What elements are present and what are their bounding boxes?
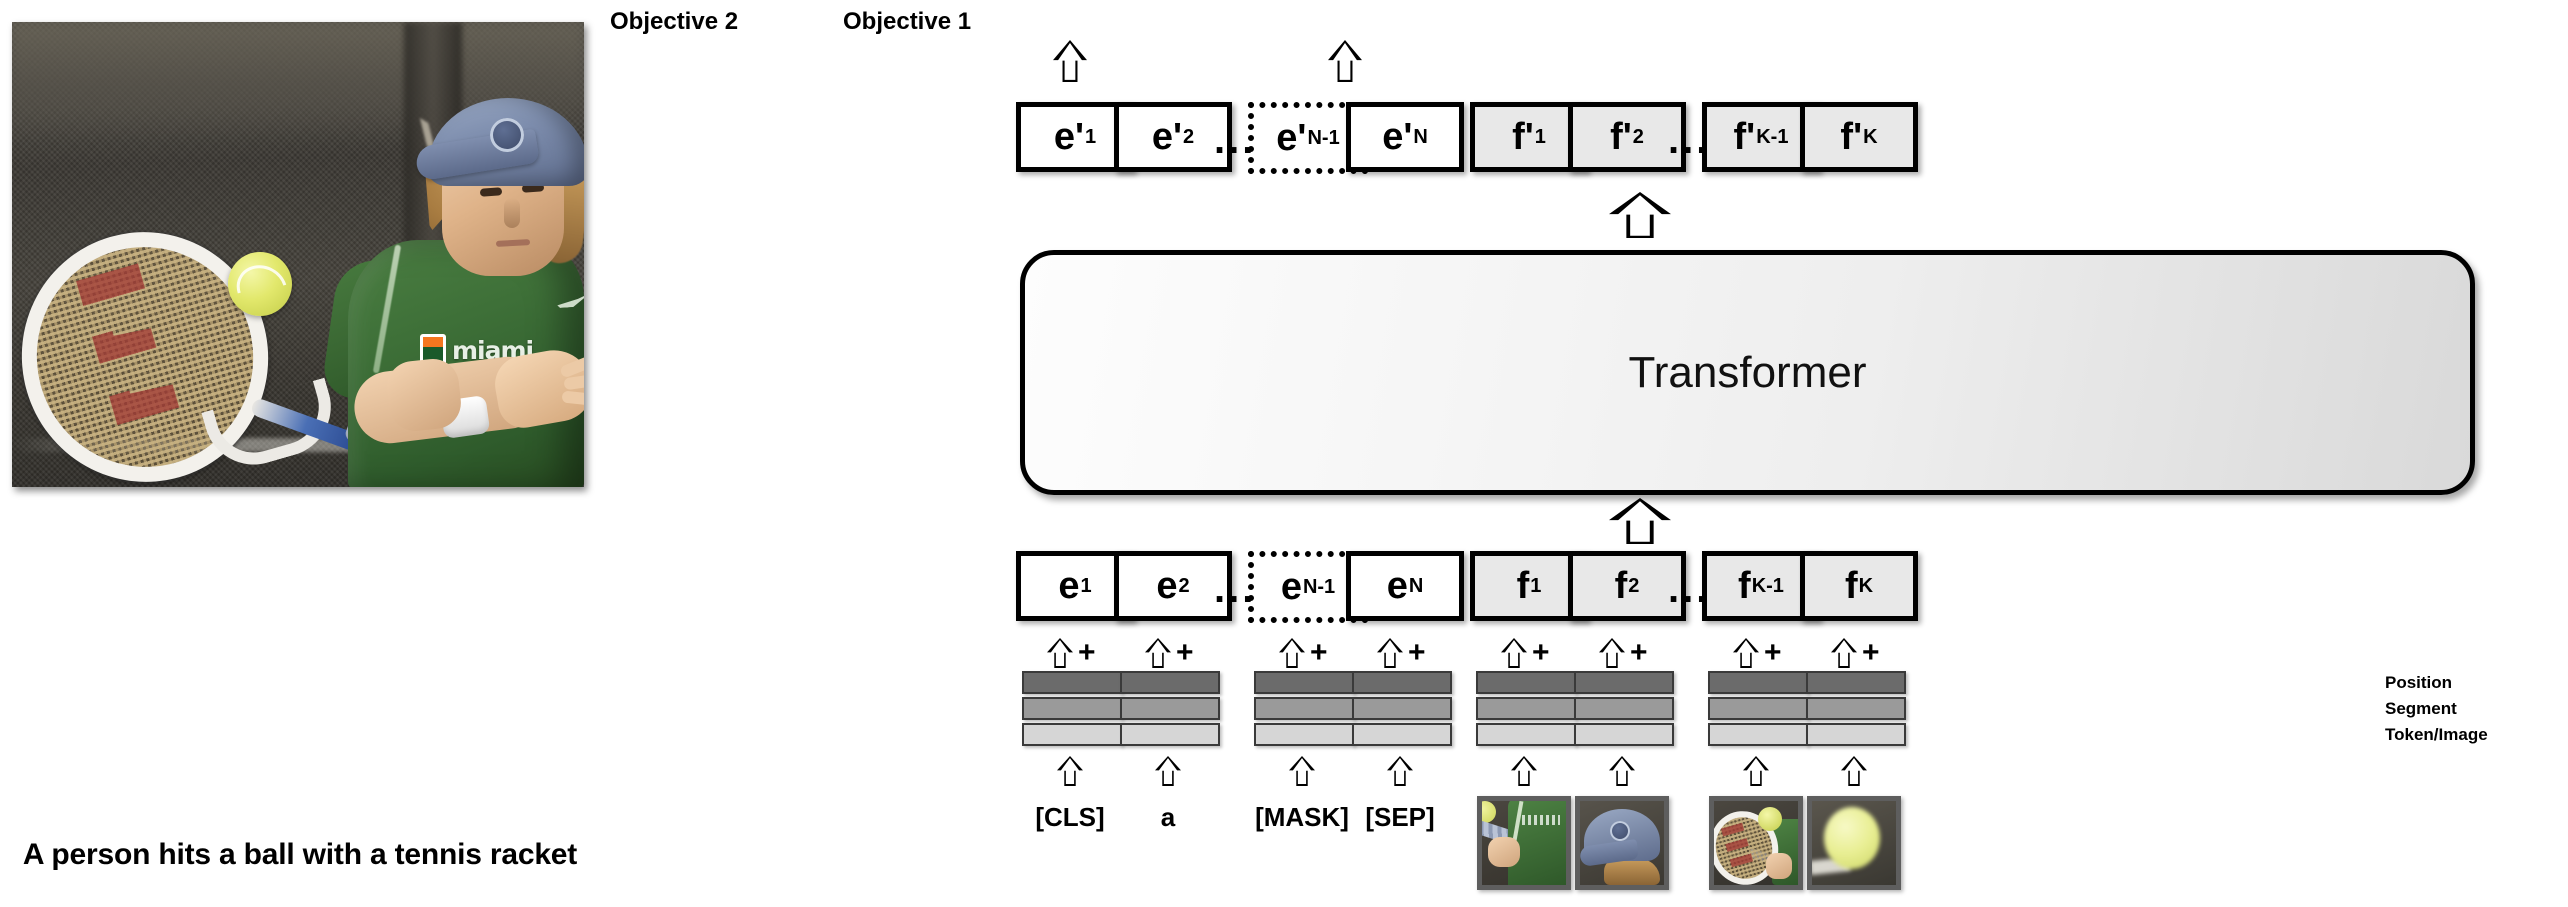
raw-text-token-a: a [1114,802,1222,833]
source-photo: miami [12,22,584,487]
vl-bert-architecture-diagram: Objective 2 Objective 1 e'1e'2e'N-1e'Nf'… [600,0,2568,907]
token-symbol: e' [1054,118,1084,156]
output-token-fprime-K[interactable]: f'K [1800,102,1918,172]
legend-label-token-image: Token/Image [2385,725,2488,745]
embedding-sum-arrow [1377,638,1403,668]
arrow-inner [1603,640,1622,666]
arrow-inner [1515,758,1534,784]
token-symbol: f' [1512,118,1534,156]
raw-input-arrow [1841,756,1867,786]
embedding-sum-arrow [1279,638,1305,668]
arrow-inner [1159,758,1178,784]
patch-tennis-ball-closeup-content [1812,801,1896,885]
token-symbol: e [1058,567,1079,605]
embedding-sum-arrow [1047,638,1073,668]
arrow-inner [1283,640,1302,666]
token-subscript: 1 [1535,126,1546,149]
embedding-sum-arrow [1831,638,1857,668]
embedding-plus-symbol: + [1630,638,1648,668]
embedding-sum-arrow [1733,638,1759,668]
token-symbol: e' [1152,118,1182,156]
token-subscript: 2 [1183,126,1194,149]
embedding-bar-token-image [1574,723,1674,746]
embedding-bar-position [1022,671,1122,694]
arrow-inner [1293,758,1312,784]
token-symbol: e' [1382,118,1412,156]
transformer-block[interactable]: Transformer [1020,250,2475,495]
transformer-label: Transformer [1629,348,1867,398]
embedding-plus-symbol: + [1862,638,1880,668]
token-subscript: K [1859,575,1873,598]
embedding-bar-token-image [1120,723,1220,746]
embedding-bar-position [1708,671,1808,694]
arrow-inner [1061,758,1080,784]
token-subscript: N [1409,575,1423,598]
embedding-bar-token-image [1708,723,1808,746]
token-symbol: e [1156,567,1177,605]
embedding-bar-position [1254,671,1354,694]
embedding-bar-segment [1708,697,1808,720]
input-row-ellipsis-left: ... [1214,569,1256,609]
token-symbol: e [1281,568,1302,606]
embedding-plus-symbol: + [1408,638,1426,668]
embedding-bar-position [1120,671,1220,694]
objective-2-arrow [1053,40,1087,82]
patch-green-shirt-arm[interactable] [1477,796,1571,890]
raw-text-token-cls: [CLS] [1016,802,1124,833]
raw-input-arrow [1609,756,1635,786]
image-caption-text: A person hits a ball with a tennis racke… [0,838,600,872]
legend-label-segment: Segment [2385,699,2457,719]
token-symbol: f [1845,567,1858,605]
arrow-transformer-to-output [1609,192,1671,238]
embedding-plus-symbol: + [1310,638,1328,668]
arrow-inner [1618,195,1663,235]
patch-racket-and-ball[interactable] [1709,796,1803,890]
player-nose [504,198,520,228]
cap-logo-icon [490,118,524,152]
token-subscript: 2 [1628,575,1639,598]
token-symbol: e' [1276,119,1306,157]
objective-2-label: Objective 2 [610,8,738,36]
token-subscript: 2 [1633,126,1644,149]
raw-input-arrow [1511,756,1537,786]
token-subscript: N-1 [1303,576,1335,599]
legend-label-position: Position [2385,673,2452,693]
arrow-inner [1149,640,1168,666]
embedding-bar-position [1806,671,1906,694]
patch-tennis-ball-closeup[interactable] [1807,796,1901,890]
output-row-ellipsis-right: ... [1668,120,1710,160]
embedding-bar-position [1352,671,1452,694]
input-token-f-K[interactable]: fK [1800,551,1918,621]
token-subscript: 1 [1530,575,1541,598]
arrow-inner [1051,640,1070,666]
raw-input-arrow [1057,756,1083,786]
embedding-sum-arrow [1599,638,1625,668]
player-racket-hand [385,356,464,433]
arrow-inner [1058,43,1082,80]
player-eye [480,187,503,197]
embedding-bar-segment [1120,697,1220,720]
raw-text-token-mask: [MASK] [1248,802,1356,833]
token-subscript: 1 [1085,126,1096,149]
embedding-bar-token-image [1352,723,1452,746]
token-subscript: 2 [1179,575,1190,598]
token-symbol: e [1387,567,1408,605]
patch-blue-cap[interactable] [1575,796,1669,890]
token-subscript: K [1863,126,1877,149]
patch-racket-and-ball-content [1714,801,1798,885]
token-symbol: f [1738,567,1751,605]
embedding-bar-segment [1476,697,1576,720]
arrow-inner [1391,758,1410,784]
embedding-plus-symbol: + [1764,638,1782,668]
arrow-inner [1618,501,1663,541]
token-symbol: f [1517,567,1530,605]
embedding-bar-token-image [1476,723,1576,746]
embedding-sum-arrow [1145,638,1171,668]
embedding-bar-segment [1574,697,1674,720]
token-subscript: K-1 [1756,126,1788,149]
objective-1-label: Objective 1 [843,8,971,36]
patch-blue-cap-content [1580,801,1664,885]
embedding-bar-segment [1022,697,1122,720]
embedding-sum-arrow [1501,638,1527,668]
output-row-ellipsis-left: ... [1214,120,1256,160]
input-row-ellipsis-right: ... [1668,569,1710,609]
arrow-inner [1613,758,1632,784]
token-symbol: f [1615,567,1628,605]
embedding-bar-token-image [1022,723,1122,746]
token-subscript: 1 [1081,575,1092,598]
embedding-plus-symbol: + [1078,638,1096,668]
token-subscript: N [1413,126,1427,149]
arrow-inner [1381,640,1400,666]
raw-text-token-sep: [SEP] [1346,802,1454,833]
token-subscript: K-1 [1752,575,1784,598]
input-token-e-N[interactable]: eN [1346,551,1464,621]
objective-1-arrow [1328,40,1362,82]
embedding-bar-segment [1254,697,1354,720]
embedding-bar-segment [1806,697,1906,720]
arrow-inner [1835,640,1854,666]
raw-input-arrow [1743,756,1769,786]
token-symbol: f' [1610,118,1632,156]
embedding-bar-token-image [1254,723,1354,746]
arrow-inner [1737,640,1756,666]
arrow-inner [1845,758,1864,784]
embedding-plus-symbol: + [1532,638,1550,668]
embedding-bar-token-image [1806,723,1906,746]
token-symbol: f' [1840,118,1862,156]
embedding-bar-position [1476,671,1576,694]
raw-input-arrow [1289,756,1315,786]
raw-input-arrow [1387,756,1413,786]
arrow-inner [1333,43,1357,80]
embedding-bar-segment [1352,697,1452,720]
arrow-inner [1747,758,1766,784]
output-token-eprime-N[interactable]: e'N [1346,102,1464,172]
arrow-inner [1505,640,1524,666]
embedding-plus-symbol: + [1176,638,1194,668]
patch-green-shirt-arm-content [1482,801,1566,885]
arrow-input-to-transformer [1609,498,1671,544]
image-caption-panel: miami A person hits a ball with a tennis… [0,0,600,907]
token-subscript: N-1 [1307,127,1339,150]
token-symbol: f' [1734,118,1756,156]
embedding-bar-position [1574,671,1674,694]
raw-input-arrow [1155,756,1181,786]
